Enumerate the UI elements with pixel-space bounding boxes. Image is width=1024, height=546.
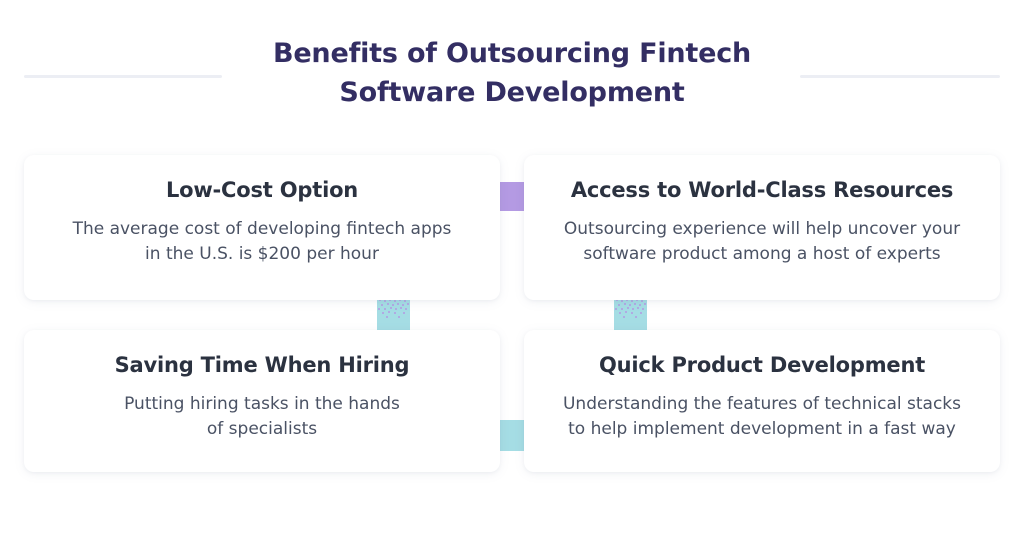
dotted-teal-square-left-decoration <box>377 298 410 331</box>
benefit-card-saving-time-when-hiring[interactable]: Saving Time When Hiring Putting hiring t… <box>24 330 500 472</box>
benefit-card-body: Understanding the features of technical … <box>542 392 982 442</box>
teal-bar-decoration <box>499 420 524 451</box>
benefit-card-body: Putting hiring tasks in the hands of spe… <box>42 392 482 442</box>
dotted-teal-square-right-decoration <box>614 298 647 331</box>
benefit-card-title: Access to World-Class Resources <box>542 177 982 204</box>
benefit-card-body: The average cost of developing fintech a… <box>42 217 482 267</box>
title-rule-left <box>24 75 222 78</box>
dot-pattern-icon <box>614 298 647 331</box>
benefit-card-title: Low-Cost Option <box>42 177 482 204</box>
benefit-card-access-to-world-class-resources[interactable]: Access to World-Class Resources Outsourc… <box>524 155 1000 300</box>
purple-bar-decoration <box>500 182 524 211</box>
benefit-card-body: Outsourcing experience will help uncover… <box>542 217 982 267</box>
benefit-card-title: Saving Time When Hiring <box>42 352 482 379</box>
dot-pattern-icon <box>377 298 410 331</box>
page-title-block: Benefits of Outsourcing Fintech Software… <box>0 34 1024 112</box>
benefit-card-low-cost-option[interactable]: Low-Cost Option The average cost of deve… <box>24 155 500 300</box>
benefit-card-title: Quick Product Development <box>542 352 982 379</box>
page-title: Benefits of Outsourcing Fintech Software… <box>232 34 792 112</box>
benefit-card-quick-product-development[interactable]: Quick Product Development Understanding … <box>524 330 1000 472</box>
title-rule-right <box>800 75 1000 78</box>
infographic-root: Benefits of Outsourcing Fintech Software… <box>0 0 1024 546</box>
